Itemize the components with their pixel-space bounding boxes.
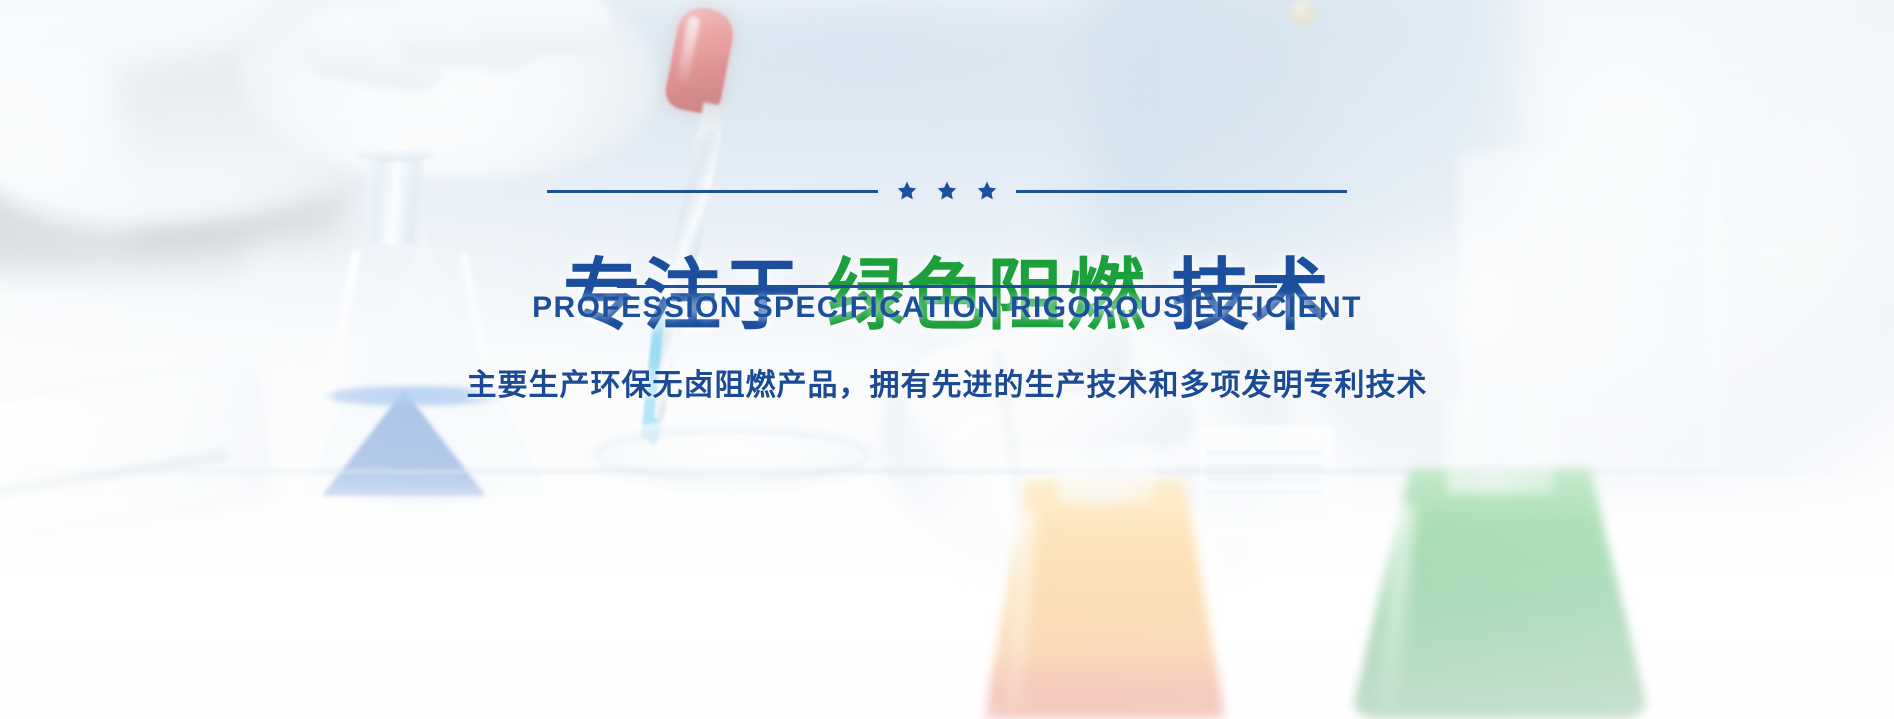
hero-banner: 专注于绿色阻燃技术 PROFESSION SPECIFICATION RIGOR… xyxy=(0,0,1894,719)
banner-text-overlay: 专注于绿色阻燃技术 PROFESSION SPECIFICATION RIGOR… xyxy=(0,0,1894,719)
star-icon xyxy=(976,180,998,202)
star-icon xyxy=(896,180,918,202)
star-group xyxy=(896,180,998,202)
decorative-rule-with-stars xyxy=(547,180,1347,202)
star-icon xyxy=(936,180,958,202)
rule-left xyxy=(547,190,878,193)
rule-right xyxy=(1016,190,1347,193)
subtitle-english: PROFESSION SPECIFICATION RIGOROUS EFFICI… xyxy=(532,291,1362,325)
description-chinese: 主要生产环保无卤阻燃产品，拥有先进的生产技术和多项发明专利技术 xyxy=(467,360,1428,404)
rule-below-title xyxy=(617,285,1277,288)
